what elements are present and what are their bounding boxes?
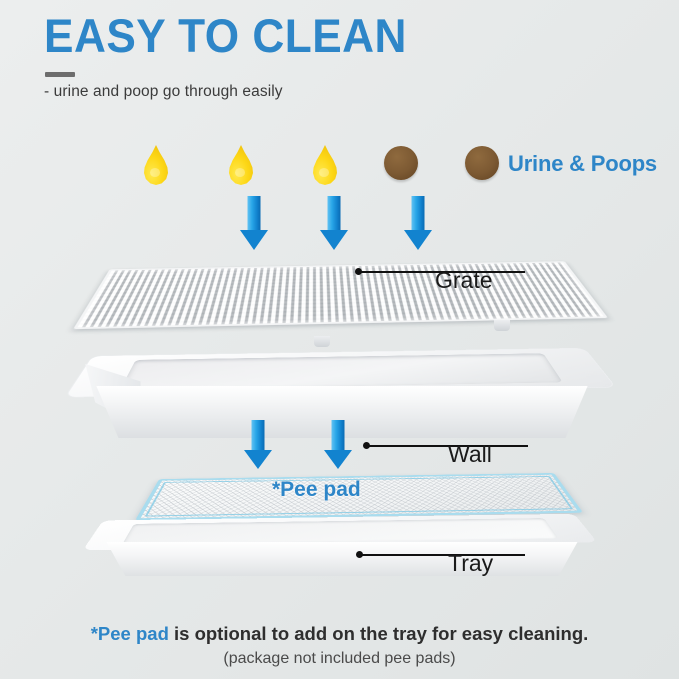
callout-line bbox=[361, 554, 525, 556]
infographic-canvas: EASY TO CLEAN - urine and poop go throug… bbox=[0, 0, 679, 679]
poop-circle-icon bbox=[465, 146, 499, 180]
wall-inner-surface bbox=[119, 353, 562, 390]
title-underline-rule bbox=[45, 72, 75, 77]
footer-note-rest: is optional to add on the tray for easy … bbox=[169, 623, 588, 644]
urine-droplet-icon bbox=[226, 145, 256, 185]
urine-droplet-icon bbox=[310, 145, 340, 185]
pee-pad-label: *Pee pad bbox=[272, 478, 361, 502]
callout-tray: Tray bbox=[356, 551, 556, 585]
footer-highlight: *Pee pad bbox=[91, 623, 169, 644]
legend-label: Urine & Poops bbox=[508, 151, 657, 177]
urine-droplet-icon bbox=[141, 145, 171, 185]
page-title: EASY TO CLEAN bbox=[44, 10, 407, 63]
footer-note-secondary: (package not included pee pads) bbox=[0, 650, 679, 668]
page-subtitle: - urine and poop go through easily bbox=[44, 83, 283, 101]
callout-grate: Grate bbox=[355, 268, 555, 302]
poop-circle-icon bbox=[384, 146, 418, 180]
tray-inner-surface bbox=[122, 518, 558, 545]
callout-label: Tray bbox=[448, 550, 493, 577]
footer-note-primary: *Pee pad is optional to add on the tray … bbox=[0, 623, 679, 645]
callout-label: Grate bbox=[435, 267, 493, 294]
